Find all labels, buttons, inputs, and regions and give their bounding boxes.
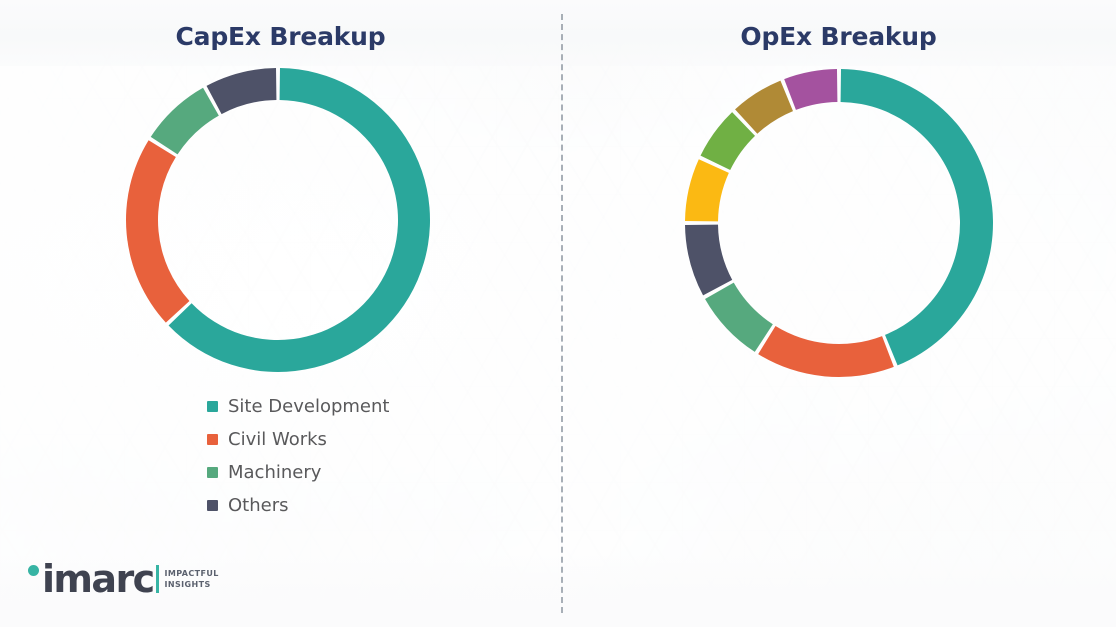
legend-item[interactable]: Others [207,489,389,522]
opex-donut-chart [684,68,994,378]
logo-tagline-line1: IMPACTFUL [165,568,219,579]
donut-segment [685,159,729,221]
legend-item-label: Civil Works [228,431,327,449]
legend-swatch-icon [207,434,218,445]
donut-segment [705,283,773,352]
logo-bar-icon [156,565,159,593]
donut-segment [784,69,837,110]
slide-stage: CapEx Breakup Site DevelopmentCivil Work… [0,0,1116,627]
logo-tagline-line2: INSIGHTS [165,579,219,590]
donut-segment [151,88,219,155]
legend-item-label: Site Development [228,398,389,416]
opex-panel: OpEx Breakup Raw MaterialsSalaries and W… [561,0,1116,627]
donut-segment [841,69,993,365]
legend-item[interactable]: Civil Works [207,423,389,456]
capex-donut-svg [124,66,432,374]
donut-segment [758,326,894,377]
legend-item[interactable]: Site Development [207,390,389,423]
legend-swatch-icon [207,401,218,412]
legend-item-label: Others [228,497,289,515]
logo-dot-icon [28,565,39,576]
logo-tagline: IMPACTFUL INSIGHTS [165,568,219,590]
opex-donut-svg [684,68,994,378]
capex-chart-title: CapEx Breakup [0,22,561,51]
capex-donut-chart [124,66,432,374]
opex-chart-title: OpEx Breakup [561,22,1116,51]
legend-swatch-icon [207,467,218,478]
donut-segment [126,140,189,322]
logo-wordmark: imarc [42,560,154,598]
donut-segment [207,68,277,114]
legend-item[interactable]: Machinery [207,456,389,489]
capex-legend: Site DevelopmentCivil WorksMachineryOthe… [207,390,389,522]
capex-panel: CapEx Breakup Site DevelopmentCivil Work… [0,0,561,627]
imarc-logo: imarc IMPACTFUL INSIGHTS [28,560,219,598]
legend-item-label: Machinery [228,464,321,482]
legend-swatch-icon [207,500,218,511]
donut-segment [685,225,732,296]
